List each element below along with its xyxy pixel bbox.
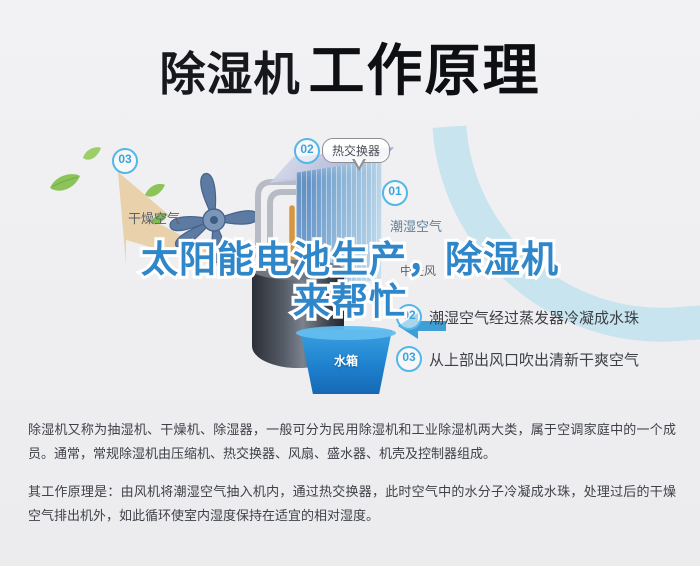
step-item-02: 02 潮湿空气经过蒸发器冷凝成水珠 [396, 304, 639, 330]
leaf-icon [48, 172, 82, 194]
label-dry-air: 干燥空气 [128, 208, 180, 227]
label-humid-air: 潮湿空气 [390, 216, 442, 235]
step-item-03: 03 从上部出风口吹出清新干爽空气 [396, 346, 639, 372]
water-tank-rim [296, 326, 396, 340]
body-paragraph-1: 除湿机又称为抽湿机、干燥机、除湿器，一般可分为民用除湿机和工业除湿机两大类，属于… [28, 418, 676, 466]
page-title-part2: 工作原理 [309, 39, 541, 102]
badge-03-dry-air: 03 [112, 148, 138, 174]
water-tank-label: 水箱 [300, 352, 392, 369]
compressor-top [252, 260, 344, 280]
page-root: 除湿机工作原理 [0, 0, 700, 566]
label-intake: 中进风 [400, 262, 436, 279]
dehumidifier-diagram: 水箱 03 02 01 热交换器 干燥空气 潮湿空气 中进风 02 潮湿空气经过… [0, 120, 700, 410]
badge-02-heat-exchanger: 02 [294, 138, 320, 164]
body-copy: 除湿机又称为抽湿机、干燥机、除湿器，一般可分为民用除湿机和工业除湿机两大类，属于… [28, 418, 676, 528]
step-badge-03: 03 [396, 346, 422, 372]
badge-01-humid-air: 01 [382, 180, 408, 206]
page-title: 除湿机工作原理 [0, 26, 700, 107]
body-paragraph-2: 其工作原理是：由风机将潮湿空气抽入机内，通过热交换器，此时空气中的水分子冷凝成水… [28, 480, 676, 528]
step-badge-02: 02 [396, 304, 422, 330]
page-title-part1: 除湿机 [160, 48, 301, 100]
callout-pointer [352, 159, 366, 171]
step-text-02: 潮湿空气经过蒸发器冷凝成水珠 [429, 307, 639, 328]
step-text-03: 从上部出风口吹出清新干爽空气 [429, 349, 639, 370]
leaf-icon [82, 146, 102, 162]
